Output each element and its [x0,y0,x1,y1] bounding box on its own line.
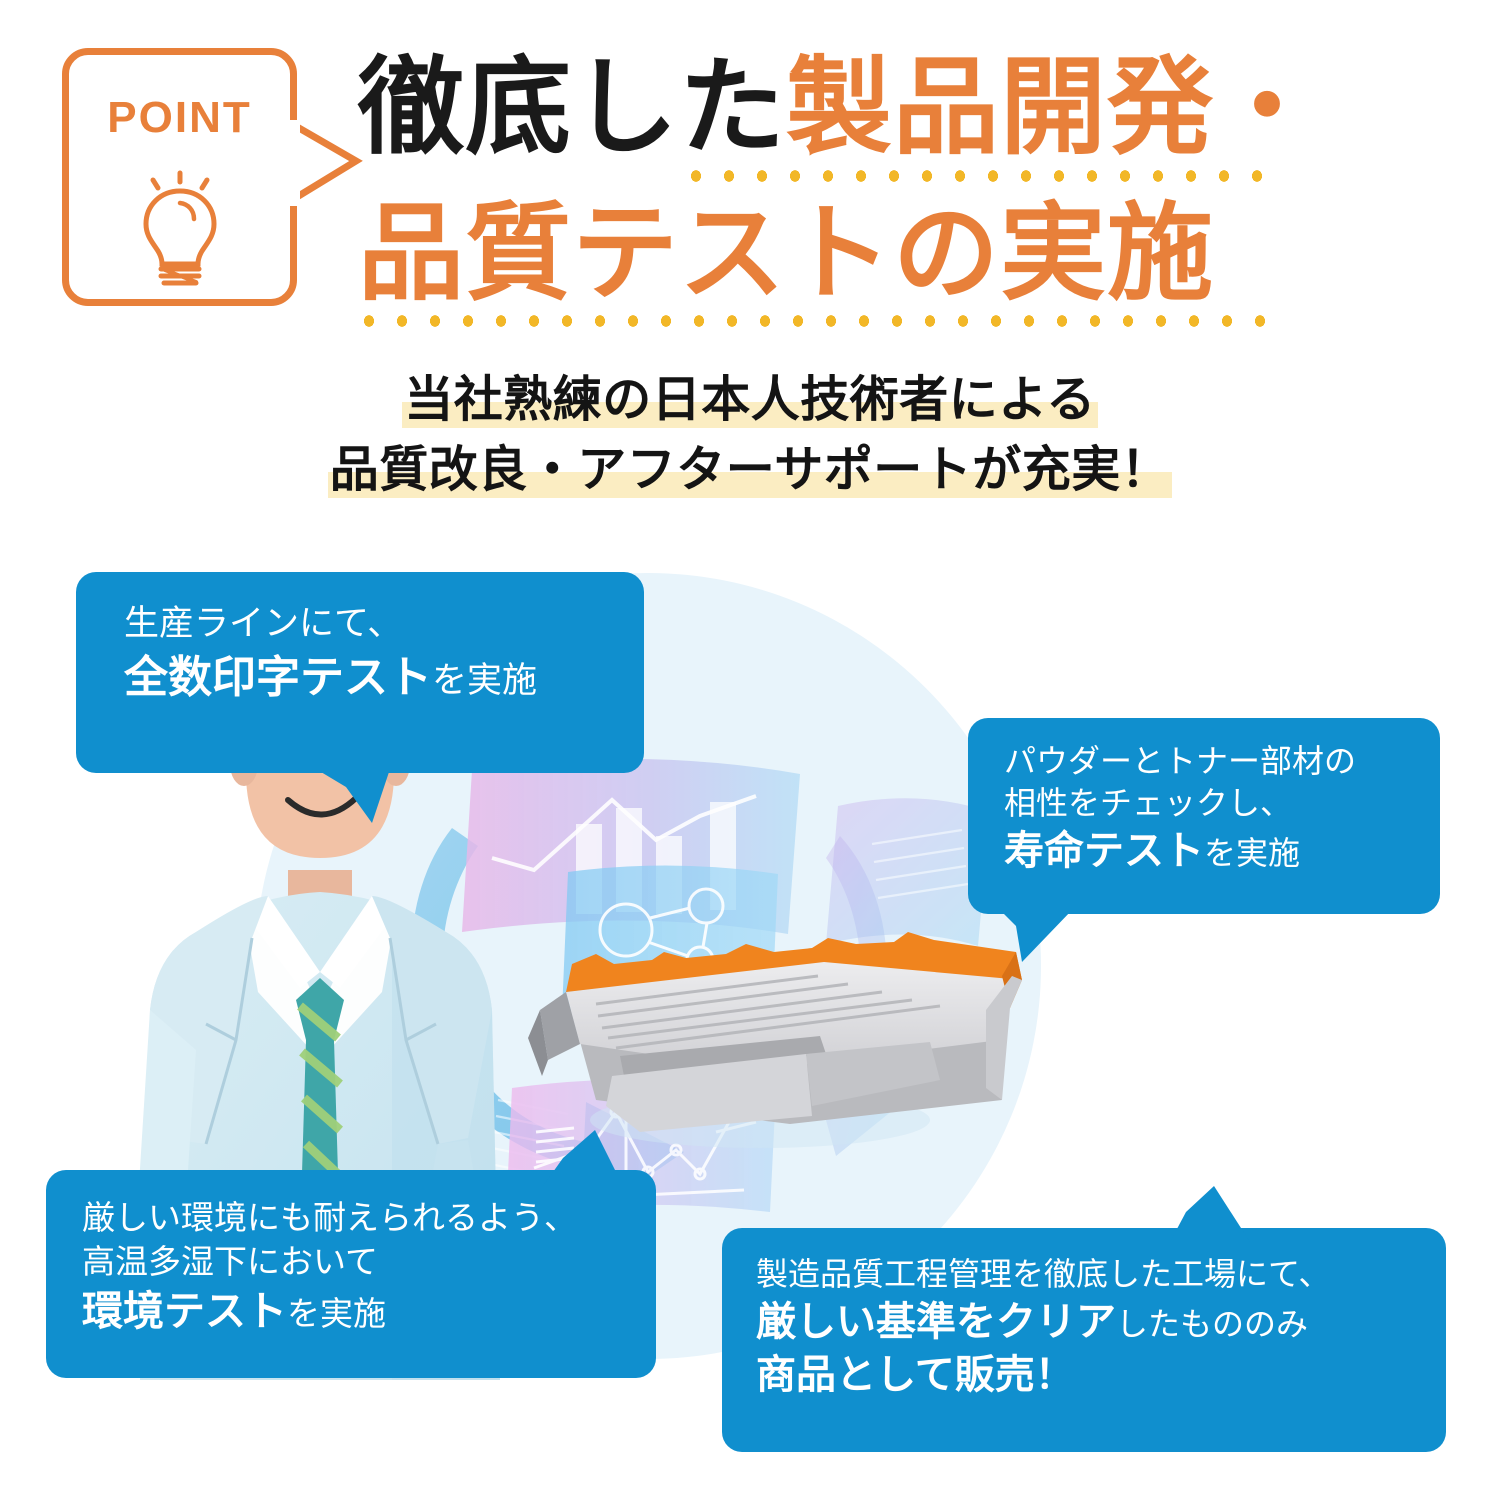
speech-bubble-production-line-text: 生産ラインにて、 全数印字テストを実施 [124,602,644,707]
bubble3-line3: 環境テストを実施 [82,1284,656,1340]
subtitle-line-1: 当社熟練の日本人技術者による [0,365,1500,435]
poster-canvas: POINT 徹底した製品開発・ 品質テストの実施 [0,0,1500,1500]
speech-bubble-tail-1 [316,769,390,823]
speech-bubble-environment-test: 厳しい環境にも耐えられるよう、 高温多湿下において 環境テストを実施 [46,1170,656,1378]
badge-arrow-icon [288,120,368,206]
title-part-orange: 製品開発・ [786,46,1321,169]
title-part-black: 徹底した [358,46,786,169]
bubble2-line1: パウダーとトナー部材の [1004,740,1440,782]
bubble4-line2-tail: したもののみ [1116,1305,1308,1343]
subtitle: 当社熟練の日本人技術者による 品質改良・アフターサポートが充実！ [0,365,1500,504]
page-title: 徹底した製品開発・ 品質テストの実施 [358,40,1448,331]
bubble2-line3: 寿命テストを実施 [1004,824,1440,879]
title-line-2: 品質テストの実施 [358,186,1448,322]
bubble2-line3-bold: 寿命テスト [1004,828,1204,874]
speech-bubble-tail-4 [1170,1186,1250,1242]
bubble2-line3-tail: を実施 [1204,834,1300,872]
title-line2-orange: 品質テストの実施 [358,192,1214,315]
subtitle-line-2-text: 品質改良・アフターサポートが充実！ [328,441,1173,498]
bubble1-line2: 全数印字テストを実施 [124,648,644,707]
speech-bubble-tail-2 [1000,910,1072,962]
speech-bubble-factory-standard: 製造品質工程管理を徹底した工場にて、 厳しい基準をクリアしたもののみ 商品として… [722,1228,1446,1452]
subtitle-line-1-text: 当社熟練の日本人技術者による [402,371,1098,428]
bubble3-line1: 厳しい環境にも耐えられるよう、 [82,1196,656,1240]
speech-bubble-factory-standard-text: 製造品質工程管理を徹底した工場にて、 厳しい基準をクリアしたもののみ 商品として… [756,1254,1446,1403]
bubble4-line1: 製造品質工程管理を徹底した工場にて、 [756,1254,1446,1296]
point-badge: POINT [62,48,297,306]
lightbulb-icon [120,163,240,293]
bubble3-line3-bold: 環境テスト [82,1287,287,1335]
bubble4-line3: 商品として販売！ [756,1349,1446,1403]
speech-bubble-environment-test-text: 厳しい環境にも耐えられるよう、 高温多湿下において 環境テストを実施 [82,1196,656,1340]
bubble4-line2-bold: 厳しい基準をクリア [756,1299,1116,1345]
subtitle-line-2: 品質改良・アフターサポートが充実！ [0,435,1500,505]
bubble1-line2-tail: を実施 [432,661,537,701]
speech-bubble-life-test: パウダーとトナー部材の 相性をチェックし、 寿命テストを実施 [968,718,1440,914]
bubble3-line3-tail: を実施 [287,1294,386,1333]
speech-bubble-tail-3 [543,1130,623,1186]
bubble2-line2: 相性をチェックし、 [1004,782,1440,824]
speech-bubble-life-test-text: パウダーとトナー部材の 相性をチェックし、 寿命テストを実施 [1004,740,1440,880]
bubble1-line1: 生産ラインにて、 [124,602,644,648]
bubble4-line2: 厳しい基準をクリアしたもののみ [756,1296,1446,1350]
speech-bubble-production-line: 生産ラインにて、 全数印字テストを実施 [76,572,644,773]
bubble3-line2: 高温多湿下において [82,1240,656,1284]
title-line-1: 徹底した製品開発・ [358,40,1448,176]
bubble1-line2-bold: 全数印字テスト [124,652,432,703]
point-badge-label: POINT [69,93,290,143]
decor-panel-right [826,798,990,946]
